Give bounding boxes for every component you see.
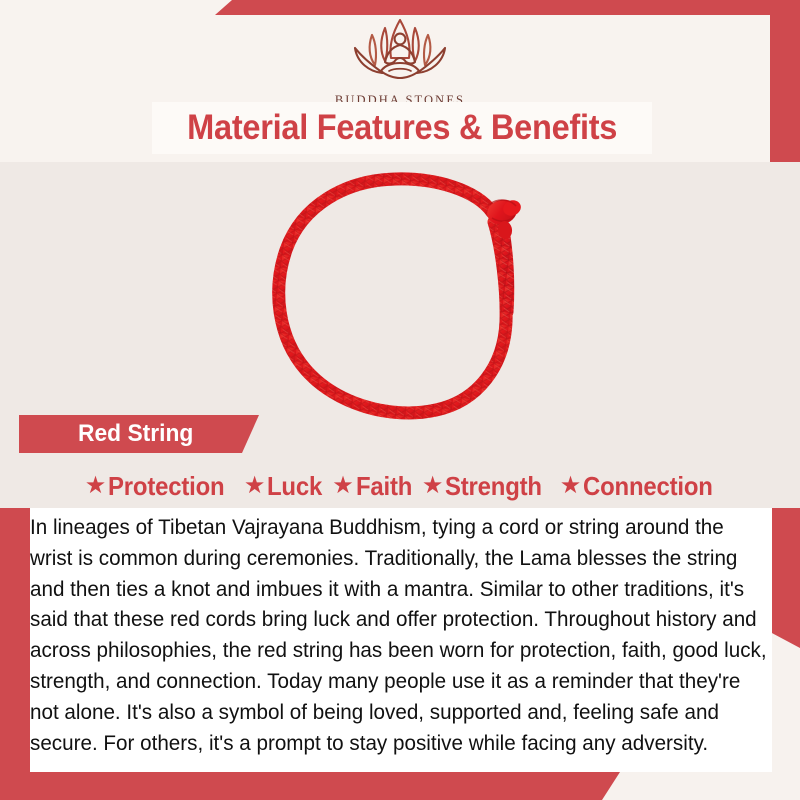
infographic-page: BUDDHA STONES Material Features & Benefi… — [0, 0, 800, 800]
benefit-item-luck: ★ Luck — [235, 471, 327, 502]
benefit-item-strength: ★ Strength — [417, 471, 551, 502]
lotus-meditation-icon — [325, 14, 475, 92]
red-string-bracelet-image — [240, 170, 560, 440]
title-banner: Material Features & Benefits — [152, 102, 652, 154]
product-image-panel — [0, 162, 800, 508]
star-icon: ★ — [560, 474, 582, 498]
description-block: In lineages of Tibetan Vajrayana Buddhis… — [30, 508, 772, 772]
material-name-ribbon: Red String — [19, 415, 259, 453]
benefit-label: Strength — [445, 471, 542, 502]
benefits-list: ★ Protection ★ Luck ★ Faith ★ Strength ★… — [0, 464, 800, 508]
star-icon: ★ — [422, 474, 444, 498]
description-text: In lineages of Tibetan Vajrayana Buddhis… — [30, 512, 771, 758]
material-name: Red String — [78, 420, 193, 448]
brand-logo: BUDDHA STONES — [305, 14, 495, 108]
benefit-label: Faith — [356, 471, 412, 502]
star-icon: ★ — [85, 474, 107, 498]
benefit-label: Luck — [267, 471, 322, 502]
star-icon: ★ — [332, 474, 354, 498]
benefit-label: Connection — [583, 471, 713, 502]
star-icon: ★ — [244, 474, 266, 498]
benefit-item-connection: ★ Connection — [551, 471, 725, 502]
benefit-item-faith: ★ Faith — [327, 471, 417, 502]
frame-band-bottom — [0, 772, 620, 800]
page-title: Material Features & Benefits — [187, 108, 617, 148]
benefit-label: Protection — [108, 471, 224, 502]
frame-band-top — [215, 0, 800, 15]
benefit-item-protection: ★ Protection — [76, 471, 235, 502]
